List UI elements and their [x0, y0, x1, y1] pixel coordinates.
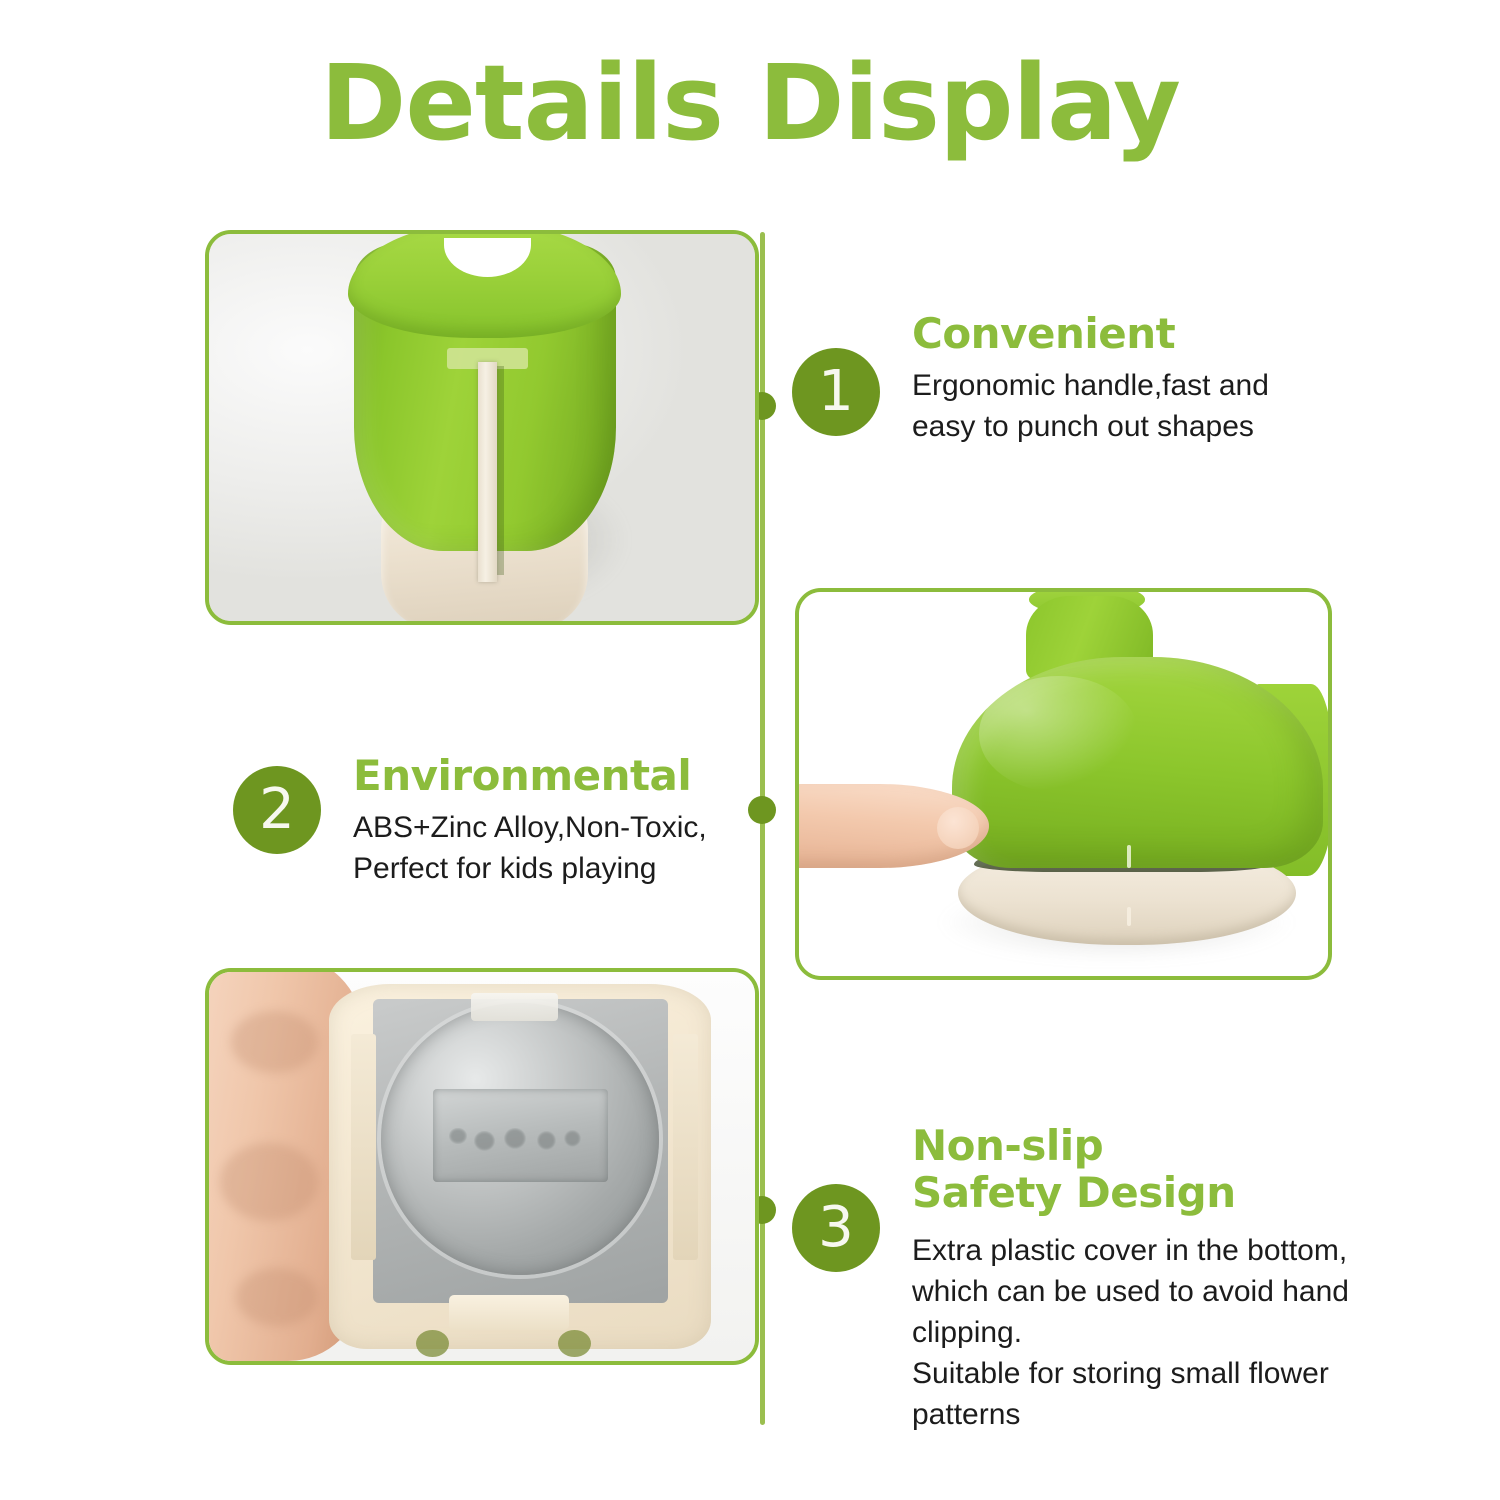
photo-1-seam-gap: [497, 366, 505, 575]
photo-3-knuckle-1: [231, 1011, 318, 1073]
feature-block-convenient: 1 Convenient Ergonomic handle,fast and e…: [792, 310, 1352, 447]
photo-punch-underside-in-hand: [205, 968, 759, 1365]
photo-3-rib-left: [351, 1034, 376, 1260]
feature-2-body: ABS+Zinc Alloy,Non-Toxic, Perfect for ki…: [353, 807, 773, 889]
photo-3-knuckle-2: [220, 1143, 318, 1221]
photo-3-foot-right: [558, 1330, 591, 1357]
feature-3-text: Non-slip Safety Design Extra plastic cov…: [912, 1122, 1392, 1435]
feature-1-heading: Convenient: [912, 310, 1352, 357]
photo-2-fingernail: [937, 807, 979, 849]
photo-3-bottom-tab: [449, 1295, 569, 1330]
page-title: Details Display: [0, 48, 1500, 158]
feature-3-heading: Non-slip Safety Design: [912, 1122, 1392, 1216]
photo-2-content: [799, 592, 1328, 976]
photo-3-content: [209, 972, 755, 1361]
feature-1-body: Ergonomic handle,fast and easy to punch …: [912, 365, 1352, 447]
photo-2-tick-upper: [1127, 845, 1131, 868]
feature-2-heading: Environmental: [353, 752, 773, 799]
feature-2-text: Environmental ABS+Zinc Alloy,Non-Toxic, …: [353, 752, 773, 889]
photo-punch-front-view: [205, 230, 759, 625]
photo-3-rib-right: [673, 1034, 698, 1260]
photo-3-motif-2: [474, 1131, 495, 1150]
photo-1-paper-slot: [478, 362, 497, 583]
photo-3-motif-3: [504, 1128, 526, 1149]
photo-3-knuckle-3: [236, 1268, 318, 1326]
feature-block-environmental: 2 Environmental ABS+Zinc Alloy,Non-Toxic…: [233, 752, 773, 889]
photo-3-clear-clip: [471, 993, 558, 1020]
photo-3-motif-1: [449, 1128, 466, 1144]
photo-1-content: [209, 234, 755, 621]
feature-3-body: Extra plastic cover in the bottom, which…: [912, 1230, 1392, 1435]
photo-2-dome-highlight: [979, 676, 1138, 791]
feature-badge-1: 1: [792, 348, 880, 436]
photo-3-motif-5: [564, 1130, 581, 1147]
feature-block-non-slip-safety-design: 3 Non-slip Safety Design Extra plastic c…: [792, 1122, 1392, 1435]
photo-3-foot-left: [416, 1330, 449, 1357]
feature-1-text: Convenient Ergonomic handle,fast and eas…: [912, 310, 1352, 447]
photo-finger-pressing-punch: [795, 588, 1332, 980]
photo-2-tick-lower: [1127, 907, 1131, 926]
feature-badge-2: 2: [233, 766, 321, 854]
feature-badge-3: 3: [792, 1184, 880, 1272]
infographic-page: Details Display: [0, 0, 1500, 1500]
